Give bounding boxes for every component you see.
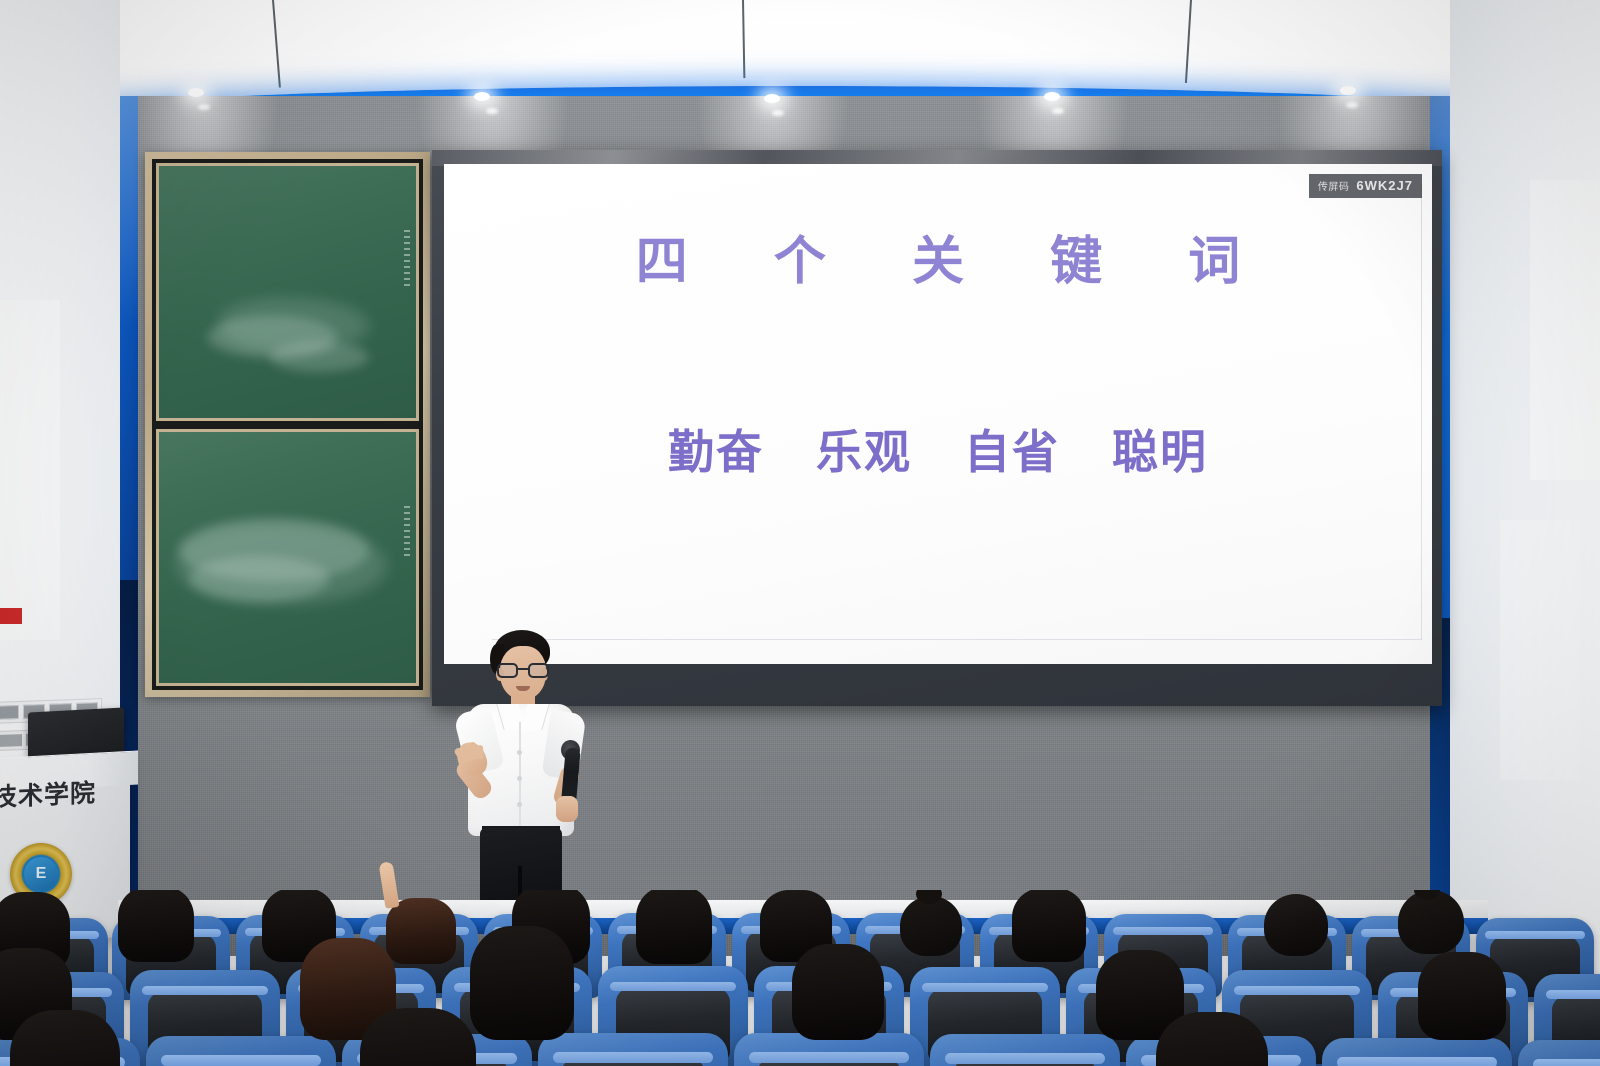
audience-head [636,890,712,964]
audience-head [900,896,962,956]
ceiling-suspension-wire [272,0,281,92]
downlight-reflection [772,110,784,116]
emblem-core: E [24,857,58,891]
slide-keyword: 自省 [964,416,1060,482]
audience-head [1012,890,1086,962]
lecture-hall-scene: 四 个 关 键 词 勤奋乐观自省聪明 传屏码 6WK2J7 技术学院 E [0,0,1600,1066]
presenter [456,630,584,920]
chalkboard [145,152,430,697]
slide-keyword: 乐观 [816,416,912,482]
chalkboard-panel-upper [156,163,419,421]
audience-head [470,926,574,1040]
glasses-icon [497,663,549,678]
slide-keyword: 勤奋 [668,416,764,482]
screencast-code-badge: 传屏码 6WK2J7 [1309,174,1422,198]
projected-slide[interactable]: 四 个 关 键 词 勤奋乐观自省聪明 传屏码 6WK2J7 [444,164,1432,664]
downlight-reflection [1052,108,1064,114]
chalkboard-panel-lower [156,429,419,687]
downlight-reflection [1346,102,1358,108]
ceiling-downlight [1340,86,1356,95]
lectern-institution-label: 技术学院 [0,772,122,814]
audience-head [1418,952,1506,1040]
presenter-mic-hand [556,796,578,822]
screencast-label: 传屏码 [1318,178,1350,193]
slide-title: 四 个 关 键 词 [444,219,1432,294]
ceiling-downlight [188,88,204,97]
projection-screen-bezel: 四 个 关 键 词 勤奋乐观自省聪明 传屏码 6WK2J7 [432,150,1442,706]
slide-keyword-list: 勤奋乐观自省聪明 [444,416,1432,482]
audience-head [118,890,194,962]
downlight-reflection [198,104,210,110]
audience-head [386,898,456,964]
audience-head [1398,890,1464,954]
audience-head [792,944,884,1040]
slide-keyword: 聪明 [1112,416,1208,482]
ceiling-downlight [474,92,490,101]
ceiling-suspension-wire [1185,0,1192,86]
downlight-reflection [486,108,498,114]
screencast-code: 6WK2J7 [1356,178,1413,193]
wall-notice-tag [0,608,22,624]
ceiling-downlight [764,94,780,103]
audience-head [1264,894,1328,956]
audience-seating [0,890,1600,1066]
ceiling-downlight [1044,92,1060,101]
